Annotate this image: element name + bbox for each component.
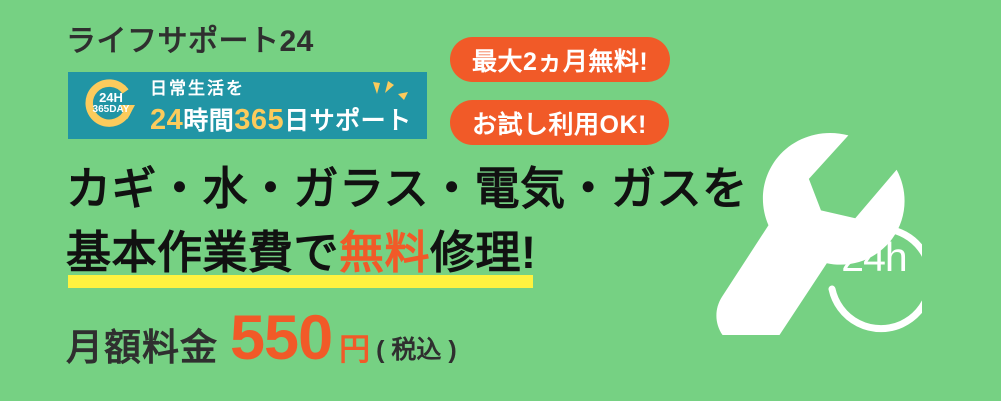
headline-emphasis-free: 無料 [339,227,430,278]
badge-trial-use-ok: お試し利用OK! [450,100,669,145]
headline-line-1: カギ・水・ガラス・電気・ガスを [66,160,686,218]
badge-text-hours: 時間 [183,107,234,135]
price-currency: 円 [339,334,370,370]
support-badge: 24H 365DAY 日常生活を 24時間365日サポート [68,72,427,139]
headline-line-2: 基本作業費で無料修理! [66,224,686,282]
headline-line-2-before: 基本作業費で [66,227,339,278]
price-tax-note: ( 税込 ) [376,338,457,370]
headline: カギ・水・ガラス・電気・ガスを 基本作業費で無料修理! [66,160,686,281]
sparkle-icon [371,80,411,112]
promo-banner: ライフサポート24 24H 365DAY 日常生活を 24時間365日サポート [0,0,1001,401]
price-amount: 550 [230,307,332,370]
wrench-icon: 24h [672,85,922,335]
badge-number-365: 365 [234,104,284,136]
price-line: 月額料金 550 円 ( 税込 ) [66,307,457,370]
circular-arrow-24h-icon: 24H 365DAY [82,77,140,135]
brand-title: ライフサポート24 [66,27,314,57]
badge-max-2-months-free: 最大2ヵ月無料! [450,37,670,82]
price-label: 月額料金 [66,329,218,370]
headline-line-2-after: 修理! [430,227,537,278]
badge-number-24: 24 [150,104,183,136]
